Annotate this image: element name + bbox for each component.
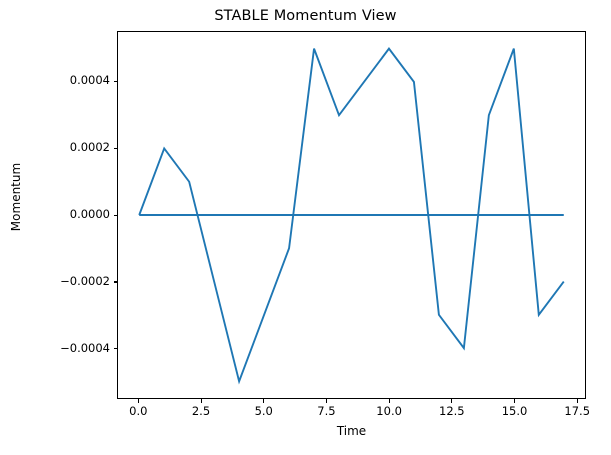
x-tick-mark [201, 399, 202, 403]
y-tick-label: 0.0000 [70, 207, 110, 221]
y-tick-mark [114, 348, 118, 349]
y-tick-label: 0.0002 [70, 140, 110, 154]
x-tick-label: 2.5 [192, 404, 210, 418]
x-tick-mark [138, 399, 139, 403]
x-axis-label: Time [117, 424, 586, 438]
matplotlib-figure: STABLE Momentum View 0.00040.00020.0000−… [0, 0, 611, 455]
y-tick-label: −0.0004 [60, 341, 110, 355]
y-tick-label: 0.0004 [70, 73, 110, 87]
x-tick-mark [514, 399, 515, 403]
y-axis-label: Momentum [9, 117, 23, 277]
x-tick-label: 15.0 [502, 404, 528, 418]
x-tick-label: 10.0 [376, 404, 402, 418]
x-tick-label: 17.5 [564, 404, 590, 418]
plot-area [117, 31, 586, 399]
x-tick-label: 7.5 [317, 404, 335, 418]
x-tick-mark [389, 399, 390, 403]
y-tick-mark [114, 81, 118, 82]
y-tick-mark [114, 148, 118, 149]
x-tick-label: 0.0 [129, 404, 147, 418]
y-tick-label: −0.0002 [60, 274, 110, 288]
x-tick-label: 5.0 [255, 404, 273, 418]
x-tick-label: 12.5 [439, 404, 465, 418]
x-tick-mark [577, 399, 578, 403]
x-axis-tick-labels: 0.02.55.07.510.012.515.017.5 [0, 404, 611, 424]
x-tick-mark [263, 399, 264, 403]
y-tick-mark [114, 215, 118, 216]
plot-svg [118, 32, 585, 398]
x-tick-mark [326, 399, 327, 403]
x-tick-mark [451, 399, 452, 403]
y-tick-mark [114, 281, 118, 282]
